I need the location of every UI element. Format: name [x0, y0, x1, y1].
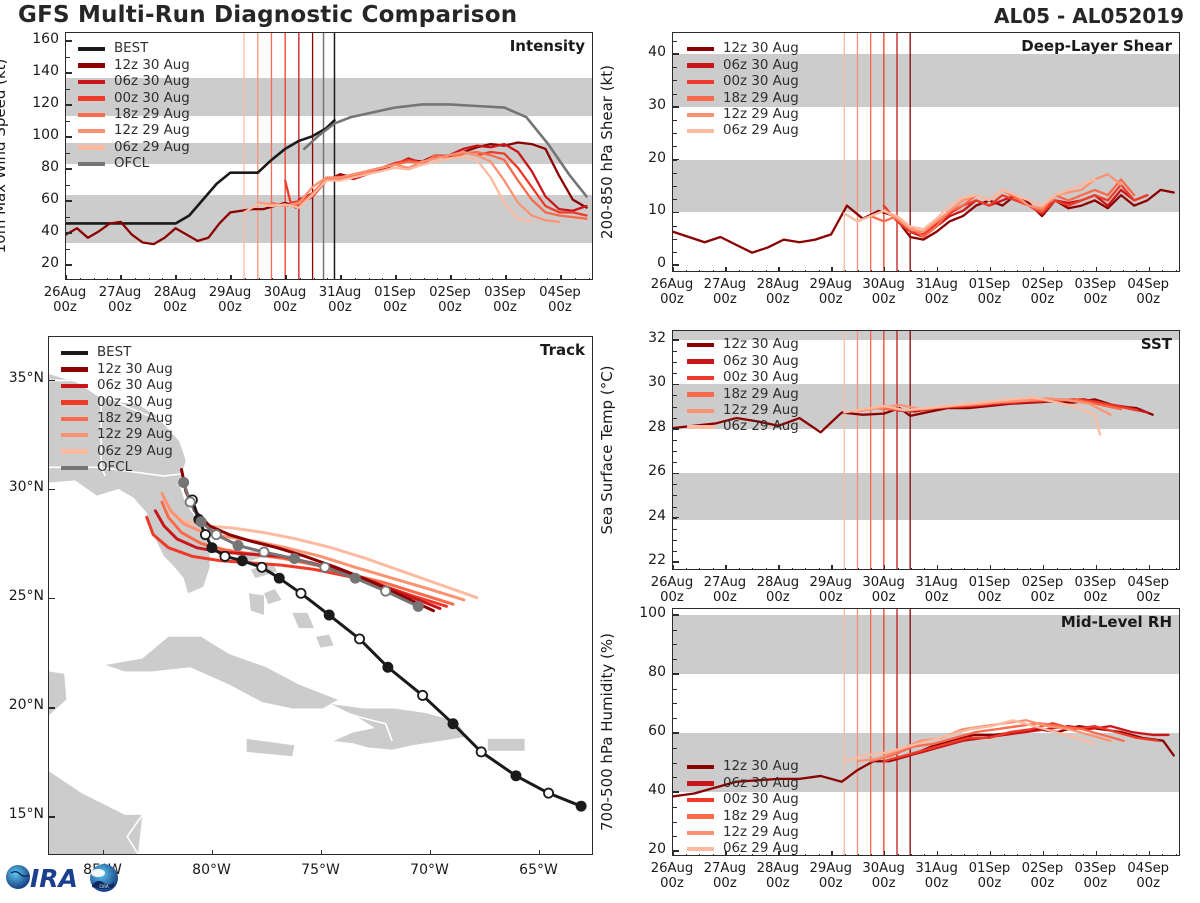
legend-swatch: [687, 113, 714, 117]
x-minor-tick: [1004, 854, 1005, 857]
y-tick-label: 120: [21, 95, 59, 111]
y-minor-tick: [673, 507, 677, 508]
legend-item[interactable]: 00z 30 Aug: [687, 792, 799, 808]
x-tick-label: 04Sep00z: [522, 286, 598, 315]
legend-item[interactable]: 12z 30 Aug: [61, 361, 173, 377]
y-tick-label: 60: [21, 191, 59, 207]
x-tick-mark: [672, 565, 674, 570]
x-tick-hour: 00z: [1083, 590, 1107, 605]
panel-title-rh: Mid-Level RH: [1061, 613, 1172, 631]
y-minor-tick: [673, 107, 677, 108]
y-minor-tick: [673, 54, 677, 55]
x-tick-hour: 00z: [766, 590, 790, 605]
x-tick-hour: 00z: [53, 300, 77, 315]
x-minor-tick: [1136, 568, 1137, 571]
y-minor-tick: [673, 120, 677, 121]
x-minor-tick: [1083, 854, 1084, 857]
x-minor-tick: [805, 568, 806, 571]
y-tick-label: 100: [21, 127, 59, 143]
x-minor-tick: [437, 278, 438, 281]
y-tick-label: 22: [628, 552, 666, 568]
track-marker: [196, 517, 205, 526]
y-minor-tick: [673, 41, 677, 42]
x-tick-mark: [725, 565, 727, 570]
legend-swatch: [687, 814, 714, 818]
x-minor-tick: [713, 854, 714, 857]
x-minor-tick: [424, 278, 425, 281]
x-tick-hour: 00z: [925, 590, 949, 605]
lat-tick-label: 25°N: [0, 588, 44, 604]
landmass-andros: [249, 593, 264, 615]
x-minor-tick: [739, 854, 740, 857]
legend-label: 12z 29 Aug: [97, 428, 173, 441]
y-tick-label: 24: [628, 508, 666, 524]
map-border-5: [179, 413, 201, 441]
y-minor-tick: [673, 644, 677, 645]
x-tick-hour: 00z: [872, 590, 896, 605]
legend-item[interactable]: 06z 30 Aug: [687, 57, 799, 73]
x-minor-tick: [1123, 568, 1124, 571]
x-tick-hour: 00z: [328, 300, 352, 315]
legend-item[interactable]: 18z 29 Aug: [687, 90, 799, 106]
y-minor-tick: [673, 551, 677, 552]
legend-item[interactable]: OFCL: [61, 460, 173, 476]
legend-label: 06z 30 Aug: [97, 379, 173, 392]
legend-swatch: [687, 765, 714, 769]
track-marker: [383, 663, 392, 672]
x-minor-tick: [534, 278, 535, 281]
x-tick-mark: [65, 275, 67, 280]
lat-tick-label: 15°N: [0, 806, 44, 822]
y-minor-tick: [66, 89, 70, 90]
legend-item[interactable]: 06z 29 Aug: [78, 139, 190, 155]
legend-swatch: [78, 113, 105, 117]
track-marker: [351, 574, 360, 583]
legend-label: BEST: [114, 42, 148, 55]
x-tick-mark: [937, 565, 939, 570]
legend-swatch: [78, 129, 105, 133]
legend-item[interactable]: 12z 30 Aug: [687, 759, 799, 775]
track-marker: [320, 563, 329, 572]
x-tick-hour: 00z: [163, 300, 187, 315]
x-tick-hour: 00z: [108, 300, 132, 315]
x-tick-mark: [884, 851, 886, 856]
y-tick-label: 80: [21, 159, 59, 175]
y-minor-tick: [673, 67, 677, 68]
x-minor-tick: [492, 278, 493, 281]
x-tick-mark: [1043, 851, 1045, 856]
legend-item[interactable]: 12z 30 Aug: [78, 57, 190, 73]
y-minor-tick: [66, 41, 70, 42]
legend-item[interactable]: 00z 30 Aug: [687, 74, 799, 90]
x-minor-tick: [355, 278, 356, 281]
lat-tick-label: 30°N: [0, 479, 44, 495]
x-minor-tick: [107, 278, 108, 281]
y-minor-tick: [673, 351, 677, 352]
x-minor-tick: [479, 278, 480, 281]
y-tick-label: 26: [628, 463, 666, 479]
lon-tick-label: 65°W: [499, 862, 579, 878]
legend-label: OFCL: [114, 157, 149, 170]
x-minor-tick: [964, 568, 965, 571]
x-minor-tick: [1176, 270, 1177, 273]
landmass-bahamas-5: [316, 635, 333, 648]
x-minor-tick: [1017, 854, 1018, 857]
y-minor-tick: [673, 265, 677, 266]
x-minor-tick: [951, 854, 952, 857]
x-minor-tick: [924, 854, 925, 857]
legend-label: 18z 29 Aug: [97, 412, 173, 425]
y-minor-tick: [673, 395, 677, 396]
x-minor-tick: [792, 270, 793, 273]
y-minor-tick: [673, 473, 677, 474]
y-minor-tick: [673, 418, 677, 419]
legend-swatch: [61, 466, 88, 470]
y-minor-tick: [673, 659, 677, 660]
x-tick-mark: [990, 267, 992, 272]
legend-swatch: [687, 831, 714, 835]
track-marker: [233, 541, 242, 550]
x-minor-tick: [686, 568, 687, 571]
x-minor-tick: [1070, 270, 1071, 273]
landmass-hispaniola: [331, 704, 466, 750]
track-marker: [325, 610, 334, 619]
x-minor-tick: [1123, 270, 1124, 273]
legend-label: 18z 29 Aug: [114, 108, 190, 121]
legend-item[interactable]: 12z 29 Aug: [687, 107, 799, 123]
x-minor-tick: [135, 278, 136, 281]
legend-swatch: [687, 798, 714, 802]
y-minor-tick: [673, 495, 677, 496]
legend-swatch: [61, 449, 88, 453]
x-minor-tick: [217, 278, 218, 281]
legend-swatch: [687, 343, 714, 347]
x-minor-tick: [898, 568, 899, 571]
y-minor-tick: [673, 674, 677, 675]
lon-tick-label: 75°W: [281, 862, 361, 878]
legend-item[interactable]: 12z 29 Aug: [78, 123, 190, 139]
track-marker: [544, 789, 553, 798]
x-tick-mark: [937, 851, 939, 856]
x-minor-tick: [819, 854, 820, 857]
x-minor-tick: [766, 568, 767, 571]
x-tick-mark: [884, 565, 886, 570]
panel-shear: Deep-Layer Shear 12z 30 Aug06z 30 Aug00z…: [672, 32, 1180, 272]
track-marker: [275, 574, 284, 583]
legend-label: 06z 30 Aug: [723, 59, 799, 72]
legend-item[interactable]: 12z 29 Aug: [687, 403, 799, 419]
x-minor-tick: [964, 854, 965, 857]
y-tick-label: 28: [628, 419, 666, 435]
x-minor-tick: [951, 270, 952, 273]
track-marker: [296, 589, 305, 598]
y-minor-tick: [673, 373, 677, 374]
x-tick-mark: [505, 275, 507, 280]
x-tick-date: 27Aug: [99, 285, 142, 300]
x-minor-tick: [845, 568, 846, 571]
y-axis-title: 200-850 hPa Shear (kt): [598, 65, 616, 239]
x-tick-mark: [831, 565, 833, 570]
x-minor-tick: [1110, 270, 1111, 273]
landmass-puerto-rico: [488, 739, 525, 751]
x-minor-tick: [686, 854, 687, 857]
legend-item[interactable]: 18z 29 Aug: [78, 107, 190, 123]
x-minor-tick: [1176, 854, 1177, 857]
y-tick-label: 20: [628, 841, 666, 857]
y-tick-label: 32: [628, 330, 666, 346]
x-tick-hour: 00z: [978, 876, 1002, 891]
track-marker: [448, 719, 457, 728]
y-minor-tick: [66, 137, 70, 138]
panel-title-track: Track: [540, 341, 585, 359]
landmass-central-am: [49, 771, 142, 854]
y-minor-tick: [673, 199, 677, 200]
legend-item[interactable]: 06z 30 Aug: [61, 378, 173, 394]
cira-logo: IRA CIRA: [4, 855, 122, 899]
x-minor-tick: [911, 854, 912, 857]
x-tick-hour: 00z: [1083, 292, 1107, 307]
x-tick-hour: 00z: [872, 292, 896, 307]
data-series-06z-29-aug: [844, 397, 1100, 434]
x-minor-tick: [911, 568, 912, 571]
x-tick-date: 03Sep: [484, 285, 526, 300]
x-tick-mark: [990, 565, 992, 570]
x-minor-tick: [898, 854, 899, 857]
legend-item[interactable]: 00z 30 Aug: [61, 394, 173, 410]
track-marker: [577, 802, 586, 811]
legend-item[interactable]: 06z 30 Aug: [687, 775, 799, 791]
track-marker: [290, 554, 299, 563]
x-tick-mark: [1149, 851, 1151, 856]
y-tick-label: 30: [628, 374, 666, 390]
x-tick-hour: 00z: [1083, 876, 1107, 891]
x-minor-tick: [871, 854, 872, 857]
x-tick-hour: 00z: [273, 300, 297, 315]
x-tick-hour: 00z: [819, 590, 843, 605]
y-minor-tick: [673, 362, 677, 363]
legend-swatch: [61, 367, 88, 371]
x-minor-tick: [752, 270, 753, 273]
x-minor-tick: [1070, 854, 1071, 857]
x-tick-mark: [1149, 565, 1151, 570]
page-title: GFS Multi-Run Diagnostic Comparison: [18, 2, 517, 28]
y-minor-tick: [673, 484, 677, 485]
x-minor-tick: [964, 270, 965, 273]
legend-item[interactable]: 12z 30 Aug: [687, 337, 799, 353]
y-minor-tick: [673, 777, 677, 778]
track-marker: [355, 634, 364, 643]
lat-tick-mark: [49, 816, 55, 818]
x-tick-hour: 00z: [925, 876, 949, 891]
x-tick-mark: [450, 275, 452, 280]
x-tick-mark: [1149, 267, 1151, 272]
y-tick-label: 140: [21, 63, 59, 79]
y-minor-tick: [673, 212, 677, 213]
storm-identifier: AL05 - AL052019: [994, 4, 1184, 28]
legend-item[interactable]: BEST: [61, 345, 173, 361]
track-marker: [418, 691, 427, 700]
x-tick-hour: 00z: [1031, 292, 1055, 307]
x-tick-mark: [1096, 267, 1098, 272]
legend-item[interactable]: 06z 29 Aug: [687, 419, 799, 435]
x-tick-hour: 00z: [819, 876, 843, 891]
x-minor-tick: [1057, 568, 1058, 571]
legend-item[interactable]: BEST: [78, 41, 190, 57]
legend-swatch: [687, 376, 714, 380]
x-minor-tick: [1004, 270, 1005, 273]
lon-tick-mark: [539, 850, 541, 855]
x-tick-mark: [1096, 851, 1098, 856]
x-minor-tick: [766, 854, 767, 857]
x-minor-tick: [858, 270, 859, 273]
legend-swatch: [687, 847, 714, 851]
x-minor-tick: [819, 270, 820, 273]
x-minor-tick: [410, 278, 411, 281]
x-minor-tick: [465, 278, 466, 281]
legend-item[interactable]: 06z 30 Aug: [78, 74, 190, 90]
y-minor-tick: [673, 226, 677, 227]
x-minor-tick: [80, 278, 81, 281]
legend-swatch: [687, 359, 714, 363]
y-minor-tick: [673, 451, 677, 452]
legend-item[interactable]: 18z 29 Aug: [687, 808, 799, 824]
x-minor-tick: [1136, 854, 1137, 857]
x-minor-tick: [1162, 854, 1163, 857]
legend-label: 12z 30 Aug: [97, 363, 173, 376]
legend-item[interactable]: 12z 29 Aug: [61, 427, 173, 443]
x-minor-tick: [1176, 568, 1177, 571]
x-tick-mark: [831, 267, 833, 272]
x-tick-mark: [725, 851, 727, 856]
panel-track: Track BEST12z 30 Aug06z 30 Aug00z 30 Aug…: [48, 336, 593, 855]
x-tick-date: 26Aug: [44, 285, 87, 300]
y-minor-tick: [673, 252, 677, 253]
x-minor-tick: [1136, 270, 1137, 273]
legend-label: 00z 30 Aug: [723, 793, 799, 806]
x-minor-tick: [805, 854, 806, 857]
y-axis-title: 10m Max Wind Speed (kt): [0, 59, 9, 254]
panel-title-intensity: Intensity: [510, 37, 585, 55]
x-minor-tick: [1162, 568, 1163, 571]
x-minor-tick: [752, 568, 753, 571]
y-minor-tick: [673, 407, 677, 408]
legend-label: 06z 30 Aug: [723, 355, 799, 368]
legend-label: 06z 29 Aug: [723, 124, 799, 137]
x-tick-hour: 00z: [713, 590, 737, 605]
y-minor-tick: [66, 185, 70, 186]
y-minor-tick: [66, 217, 70, 218]
x-minor-tick: [149, 278, 150, 281]
x-tick-date: 01Sep: [374, 285, 416, 300]
x-tick-date: 04Sep: [1127, 277, 1169, 292]
x-minor-tick: [845, 270, 846, 273]
x-minor-tick: [245, 278, 246, 281]
x-tick-hour: 00z: [660, 590, 684, 605]
legend-item[interactable]: 06z 29 Aug: [61, 443, 173, 459]
x-tick-date: 28Aug: [154, 285, 197, 300]
legend-item[interactable]: 06z 29 Aug: [687, 123, 799, 139]
legend: BEST12z 30 Aug06z 30 Aug00z 30 Aug18z 29…: [78, 41, 190, 172]
y-minor-tick: [673, 160, 677, 161]
legend-item[interactable]: 12z 29 Aug: [687, 825, 799, 841]
legend-item[interactable]: 18z 29 Aug: [61, 411, 173, 427]
x-minor-tick: [977, 270, 978, 273]
x-tick-hour: 00z: [383, 300, 407, 315]
x-tick-hour: 00z: [1031, 590, 1055, 605]
y-minor-tick: [673, 792, 677, 793]
legend-swatch: [61, 351, 88, 355]
x-minor-tick: [792, 854, 793, 857]
y-minor-tick: [673, 186, 677, 187]
x-minor-tick: [1030, 568, 1031, 571]
legend-label: 18z 29 Aug: [723, 388, 799, 401]
y-tick-label: 0: [628, 255, 666, 271]
legend-swatch: [687, 392, 714, 396]
x-minor-tick: [1030, 270, 1031, 273]
legend-label: 12z 29 Aug: [723, 108, 799, 121]
x-minor-tick: [739, 568, 740, 571]
x-minor-tick: [369, 278, 370, 281]
x-minor-tick: [1017, 270, 1018, 273]
x-minor-tick: [819, 568, 820, 571]
x-tick-hour: 00z: [493, 300, 517, 315]
legend-label: 00z 30 Aug: [97, 396, 173, 409]
y-tick-label: 40: [628, 782, 666, 798]
legend-swatch: [61, 384, 88, 388]
x-minor-tick: [190, 278, 191, 281]
x-minor-tick: [951, 568, 952, 571]
legend-swatch: [78, 96, 105, 100]
legend-label: 06z 30 Aug: [723, 777, 799, 790]
legend-item[interactable]: 00z 30 Aug: [78, 90, 190, 106]
x-tick-hour: 00z: [218, 300, 242, 315]
legend-item[interactable]: OFCL: [78, 156, 190, 172]
legend-swatch: [78, 63, 105, 67]
lon-tick-label: 80°W: [172, 862, 252, 878]
x-minor-tick: [162, 278, 163, 281]
x-minor-tick: [1162, 270, 1163, 273]
legend-item[interactable]: 00z 30 Aug: [687, 370, 799, 386]
x-tick-hour: 00z: [548, 300, 572, 315]
x-tick-mark: [285, 275, 287, 280]
track-marker: [414, 602, 423, 611]
legend-item[interactable]: 06z 29 Aug: [687, 841, 799, 856]
y-minor-tick: [673, 429, 677, 430]
legend-item[interactable]: 12z 30 Aug: [687, 41, 799, 57]
x-tick-mark: [395, 275, 397, 280]
y-minor-tick: [673, 340, 677, 341]
lon-tick-label: 70°W: [390, 862, 470, 878]
x-minor-tick: [382, 278, 383, 281]
panel-sst: SST 12z 30 Aug06z 30 Aug00z 30 Aug18z 29…: [672, 330, 1180, 570]
data-series-00z-30-aug: [884, 185, 1148, 235]
legend-item[interactable]: 18z 29 Aug: [687, 386, 799, 402]
x-minor-tick: [713, 568, 714, 571]
track-marker: [212, 530, 221, 539]
y-minor-tick: [66, 169, 70, 170]
y-tick-label: 60: [628, 723, 666, 739]
legend-item[interactable]: 06z 30 Aug: [687, 353, 799, 369]
legend: 12z 30 Aug06z 30 Aug00z 30 Aug18z 29 Aug…: [687, 759, 799, 856]
x-tick-hour: 00z: [1136, 876, 1160, 891]
x-minor-tick: [805, 270, 806, 273]
x-tick-date: 04Sep: [539, 285, 581, 300]
y-tick-label: 80: [628, 664, 666, 680]
x-minor-tick: [845, 854, 846, 857]
legend-swatch: [687, 96, 714, 100]
x-minor-tick: [547, 278, 548, 281]
panel-title-shear: Deep-Layer Shear: [1021, 37, 1172, 55]
